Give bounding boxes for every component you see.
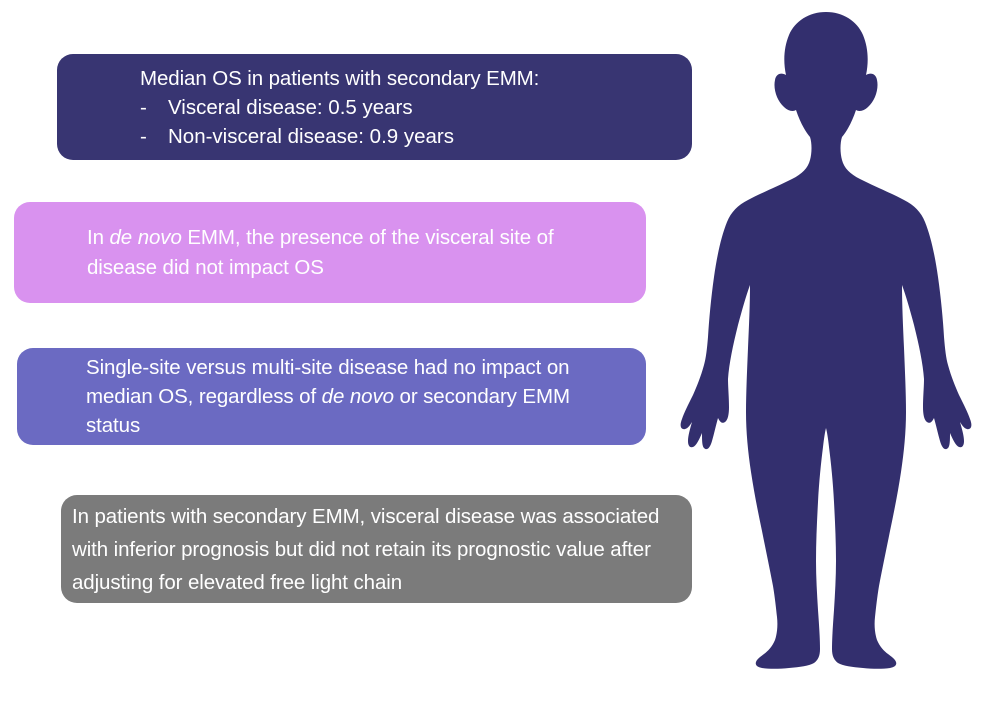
emphasised-term: de novo	[110, 226, 182, 249]
male-body-silhouette-icon	[676, 4, 976, 684]
callout-prognosis-text: In patients with secondary EMM, visceral…	[72, 500, 672, 599]
callout-single-multi-text: Single-site versus multi-site disease ha…	[86, 353, 620, 440]
callout-de-novo-visceral: In de novo EMM, the presence of the visc…	[14, 202, 646, 303]
infographic-canvas: Median OS in patients with secondary EMM…	[0, 0, 1000, 703]
callout-median-os-heading: Median OS in patients with secondary EMM…	[140, 64, 674, 93]
bullet-dash-marker: -	[140, 122, 168, 151]
bullet-dash-marker: -	[140, 93, 168, 122]
silhouette-path	[681, 12, 972, 669]
callout-single-vs-multi-site: Single-site versus multi-site disease ha…	[17, 348, 646, 445]
callout-de-novo-text: In de novo EMM, the presence of the visc…	[87, 223, 620, 283]
callout-visceral-prognosis: In patients with secondary EMM, visceral…	[61, 495, 692, 603]
bullet-text: Visceral disease: 0.5 years	[168, 93, 413, 122]
callout-median-os: Median OS in patients with secondary EMM…	[57, 54, 692, 160]
text-run: In	[87, 226, 110, 249]
emphasised-term: de novo	[322, 385, 394, 408]
bullet-text: Non-visceral disease: 0.9 years	[168, 122, 454, 151]
callout-median-os-bullet-1: - Visceral disease: 0.5 years	[140, 93, 674, 122]
text-run: In patients with secondary EMM, visceral…	[72, 505, 659, 594]
silhouette-body-shape	[681, 12, 972, 669]
callout-median-os-bullet-2: - Non-visceral disease: 0.9 years	[140, 122, 674, 151]
